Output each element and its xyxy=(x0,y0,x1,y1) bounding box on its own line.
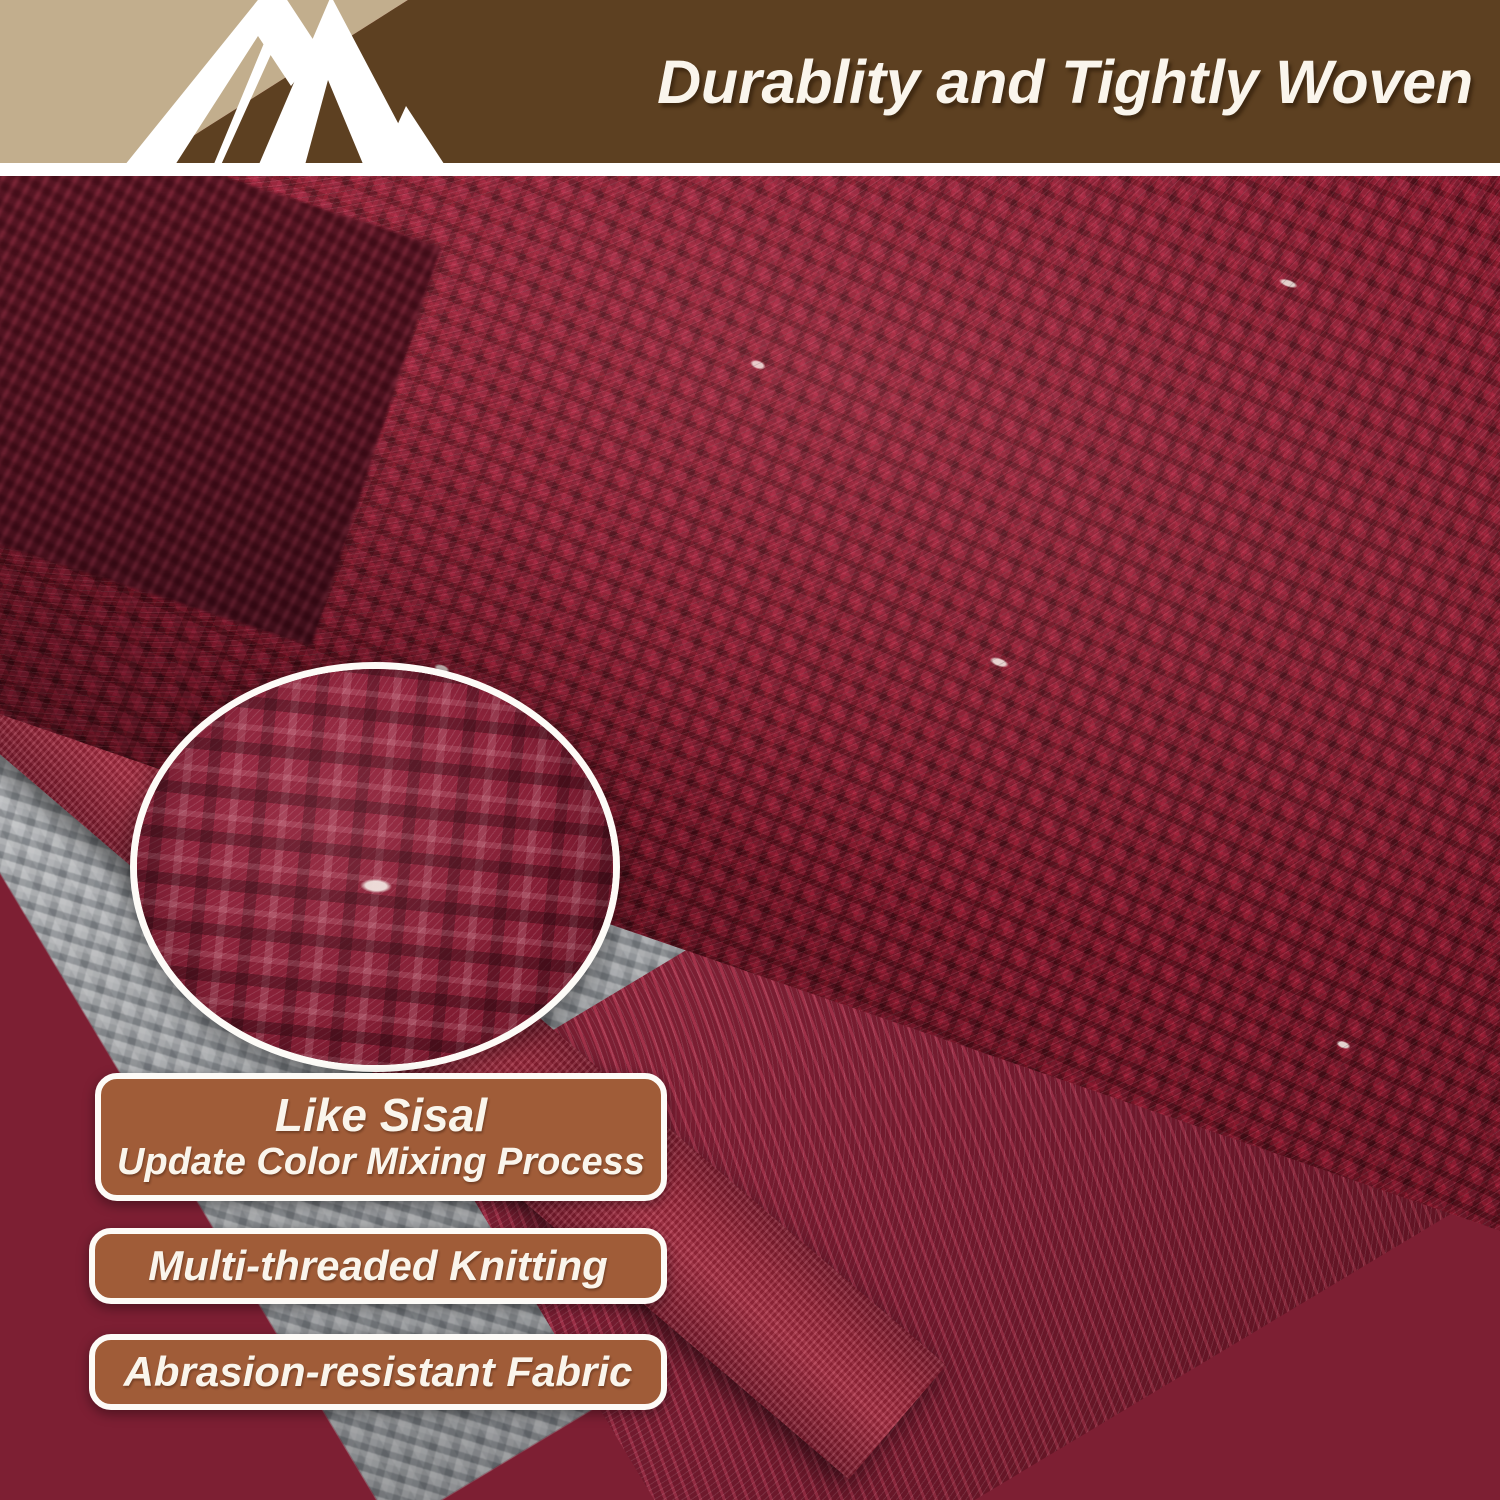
badge-like-sisal-title: Like Sisal xyxy=(275,1091,487,1139)
badge-like-sisal[interactable]: Like Sisal Update Color Mixing Process xyxy=(95,1073,667,1201)
page-title: Durablity and Tightly Woven xyxy=(437,0,1487,163)
badge-abrasion-resistant-fabric[interactable]: Abrasion-resistant Fabric xyxy=(89,1334,667,1410)
badge-multi-threaded-knitting-label: Multi-threaded Knitting xyxy=(148,1242,608,1290)
header-banner: Durablity and Tightly Woven xyxy=(0,0,1500,176)
product-feature-image: Durablity and Tightly Woven Like Sisal U… xyxy=(0,0,1500,1500)
magnifier-circle-inset xyxy=(130,662,620,1072)
magnifier-vignette xyxy=(137,669,613,1065)
badge-abrasion-resistant-fabric-label: Abrasion-resistant Fabric xyxy=(124,1348,633,1396)
brand-logo-icon xyxy=(106,0,452,176)
badge-like-sisal-subtitle: Update Color Mixing Process xyxy=(117,1141,645,1184)
header-bottom-rule xyxy=(0,163,1500,176)
badge-multi-threaded-knitting[interactable]: Multi-threaded Knitting xyxy=(89,1228,667,1304)
